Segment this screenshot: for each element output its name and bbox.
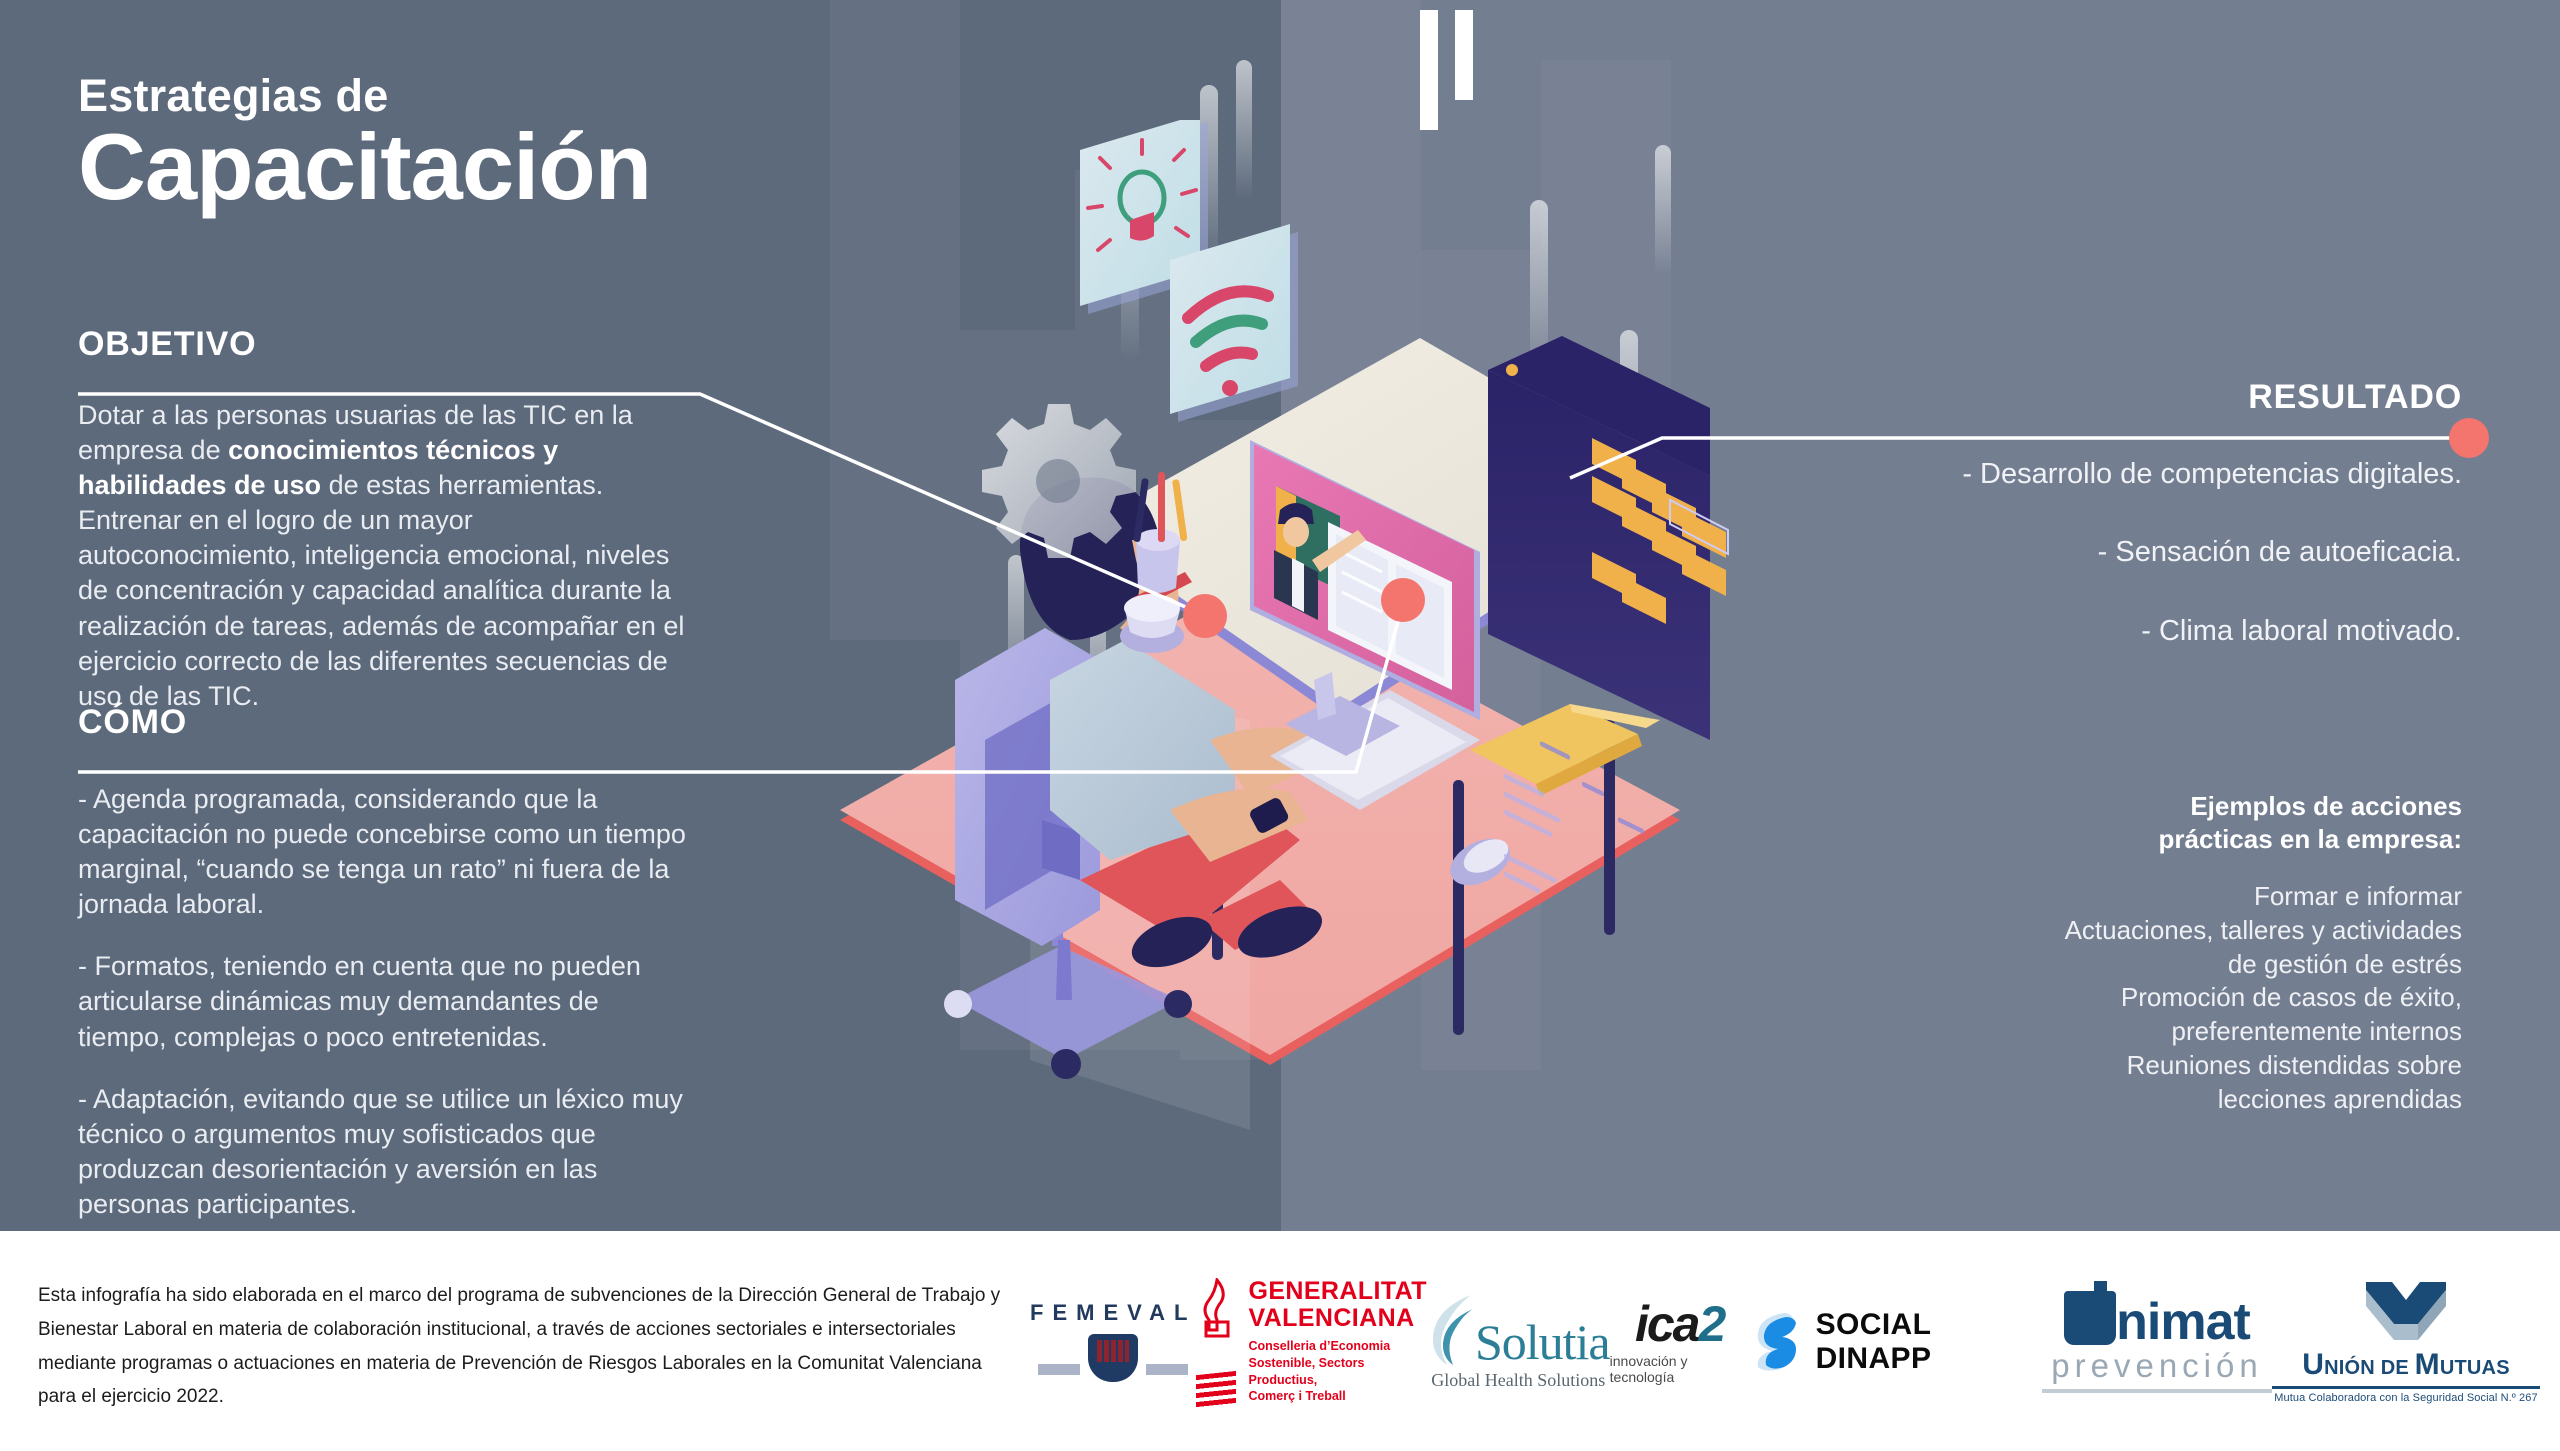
solutia-tagline: Global Health Solutions (1431, 1370, 1605, 1391)
um-d: M (2415, 1348, 2440, 1381)
um-b: NIÓN (2324, 1357, 2381, 1379)
bg-light-bar (1420, 10, 1438, 130)
como-item: - Formatos, teniendo en cuenta que no pu… (78, 949, 686, 1054)
workplace-illustration (780, 120, 1780, 1180)
generalitat-sub-1: Conselleria d’Economia (1248, 1338, 1426, 1355)
footer-disclaimer: Esta infografía ha sido elaborada en el … (38, 1279, 1018, 1414)
solutia-wave-icon (1427, 1293, 1475, 1367)
logo-solutia: Solutia Global Health Solutions (1427, 1293, 1610, 1391)
como-body: - Agenda programada, considerando que la… (78, 782, 686, 1222)
resultado-item: - Desarrollo de competencias digitales. (1702, 455, 2462, 493)
social-dinapp-wordmark: SOCIAL DINAPP (1816, 1308, 2042, 1376)
ejemplos-item: Promoción de casos de éxito, (1742, 981, 2462, 1015)
um-c: DE (2381, 1357, 2415, 1379)
page-title: Estrategias de Capacitación (78, 72, 651, 219)
ejemplos-title-line-2: prácticas en la empresa: (1802, 823, 2462, 856)
ejemplos-title-line-1: Ejemplos de acciones (1802, 790, 2462, 823)
ica2-name-a: ica (1635, 1296, 1699, 1352)
logo-generalitat-valenciana: GENERALITAT VALENCIANA Conselleria d’Eco… (1196, 1278, 1426, 1405)
nimat-wordmark: nimat (2116, 1300, 2250, 1345)
ejemplos-list: Formar e informar Actuaciones, talleres … (1742, 880, 2462, 1117)
generalitat-sub-2: Sostenible, Sectors Productius, (1248, 1355, 1426, 1389)
generalitat-line-1: GENERALITAT (1248, 1278, 1426, 1305)
infographic-page: Estrategias de Capacitación OBJETIVO Dot… (0, 0, 2560, 1451)
resultado-list: - Desarrollo de competencias digitales. … (1702, 455, 2462, 650)
como-item: - Agenda programada, considerando que la… (78, 782, 686, 922)
resultado-item: - Clima laboral motivado. (1702, 612, 2462, 650)
objetivo-body: Dotar a las personas usuarias de las TIC… (78, 398, 686, 714)
ejemplos-title: Ejemplos de acciones prácticas en la emp… (1802, 790, 2462, 857)
gear-icon (982, 404, 1136, 558)
coffee-cup (1120, 594, 1184, 653)
logo-ica2: ica2 innovación y tecnología (1610, 1299, 1750, 1385)
ejemplos-item: preferentemente internos (1742, 1015, 2462, 1049)
union-mutuas-wordmark: UNIÓN DE MUTUAS (2302, 1348, 2509, 1382)
femeval-wordmark: FEMEVAL (1030, 1300, 1196, 1326)
title-line-1: Estrategias de (78, 72, 651, 119)
generalitat-flame-icon (1196, 1278, 1238, 1364)
title-line-2: Capacitación (78, 115, 651, 218)
nimat-tagline: prevención (2051, 1349, 2262, 1382)
generalitat-line-2: VALENCIANA (1248, 1305, 1426, 1332)
generalitat-sub-3: Comerç i Treball (1248, 1388, 1426, 1405)
nimat-u-icon (2064, 1291, 2116, 1345)
objetivo-text-after: de estas herramientas. Entrenar en el lo… (78, 470, 684, 711)
social-dinapp-mark-icon (1750, 1311, 1802, 1373)
ejemplos-item: Actuaciones, talleres y actividades (1742, 914, 2462, 948)
ejemplos-item: Formar e informar (1742, 880, 2462, 914)
footer: Esta infografía ha sido elaborada en el … (0, 1231, 2560, 1451)
um-e: UTUAS (2440, 1357, 2510, 1379)
logo-nimat-prevencion: nimat prevención (2042, 1291, 2272, 1393)
nimat-rule (2042, 1389, 2272, 1393)
como-item: - Adaptación, evitando que se utilice un… (78, 1082, 686, 1222)
ejemplos-item: lecciones aprendidas (1742, 1083, 2462, 1117)
como-heading: CÓMO (78, 703, 187, 742)
femeval-emblem-icon (1038, 1332, 1188, 1384)
ica2-tagline: innovación y tecnología (1610, 1353, 1750, 1385)
ejemplos-item: Reuniones distendidas sobre (1742, 1049, 2462, 1083)
bg-light-bar (1455, 10, 1473, 100)
union-mutuas-chevron-icon (2362, 1280, 2450, 1342)
ejemplos-item: de gestión de estrés (1742, 948, 2462, 982)
logo-femeval: FEMEVAL (1030, 1300, 1196, 1384)
resultado-heading: RESULTADO (2248, 378, 2462, 417)
resultado-item: - Sensación de autoeficacia. (1702, 533, 2462, 571)
union-mutuas-tagline: Mutua Colaboradora con la Seguridad Soci… (2274, 1392, 2537, 1404)
solutia-wordmark: Solutia (1475, 1317, 1610, 1367)
objetivo-heading: OBJETIVO (78, 325, 256, 364)
union-mutuas-rule (2272, 1386, 2540, 1389)
um-a: U (2302, 1348, 2324, 1381)
logo-strip: FEMEVAL (1030, 1249, 2540, 1434)
ica2-name-b: 2 (1698, 1296, 1724, 1352)
logo-union-de-mutuas: UNIÓN DE MUTUAS Mutua Colaboradora con l… (2272, 1280, 2540, 1404)
desk-leg (1453, 780, 1464, 1035)
ica2-wordmark: ica2 (1635, 1299, 1724, 1349)
logo-social-dinapp: SOCIAL DINAPP (1750, 1308, 2042, 1376)
